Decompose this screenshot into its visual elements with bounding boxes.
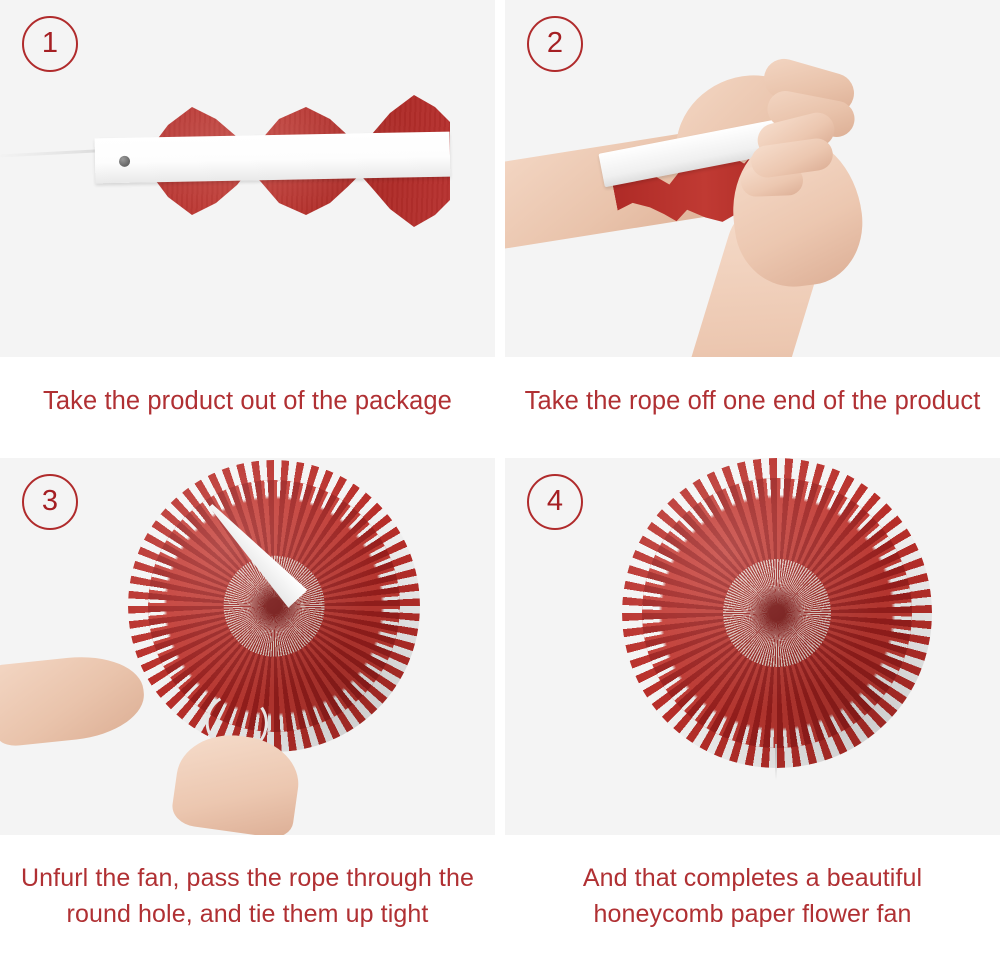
step-4-photo: 4 bbox=[505, 458, 1000, 835]
step-card-3: 3 Unfurl the fan, pass the rope through … bbox=[0, 458, 495, 919]
step-1-caption-text: Take the product out of the package bbox=[43, 383, 452, 419]
step-number-badge-4: 4 bbox=[527, 474, 583, 530]
step-number-badge-2: 2 bbox=[527, 16, 583, 72]
instruction-infographic: 1 Take the product out of the package 2 bbox=[0, 0, 1000, 956]
step-3-caption: Unfurl the fan, pass the rope through th… bbox=[0, 835, 495, 932]
step-number-badge-1: 1 bbox=[22, 16, 78, 72]
step-4-caption: And that completes a beautiful honeycomb… bbox=[505, 835, 1000, 932]
step-2-caption-text: Take the rope off one end of the product bbox=[525, 383, 981, 419]
step-card-4: 4 And that completes a beautiful honeyco… bbox=[505, 458, 1000, 919]
step-3-caption-text: Unfurl the fan, pass the rope through th… bbox=[13, 861, 483, 932]
rope-hole bbox=[119, 156, 130, 167]
hanging-thread-4 bbox=[775, 744, 777, 780]
white-cardboard-strip bbox=[95, 132, 451, 184]
fan-hub-4 bbox=[723, 559, 831, 667]
step-card-2: 2 Take th bbox=[505, 0, 1000, 437]
folded-fan-product bbox=[95, 86, 450, 236]
left-hand-3 bbox=[0, 650, 148, 747]
step-1-photo: 1 bbox=[0, 0, 495, 357]
step-number-badge-3: 3 bbox=[22, 474, 78, 530]
unfurling-fan-rosette bbox=[148, 480, 400, 732]
step-4-caption-text: And that completes a beautiful honeycomb… bbox=[518, 861, 988, 932]
finished-fan-rosette bbox=[642, 478, 912, 748]
step-card-1: 1 Take the product out of the package bbox=[0, 0, 495, 437]
step-1-caption: Take the product out of the package bbox=[0, 357, 495, 437]
step-2-caption: Take the rope off one end of the product bbox=[505, 357, 1000, 437]
steps-grid: 1 Take the product out of the package 2 bbox=[0, 0, 1000, 956]
step-3-photo: 3 bbox=[0, 458, 495, 835]
step-2-photo: 2 bbox=[505, 0, 1000, 357]
